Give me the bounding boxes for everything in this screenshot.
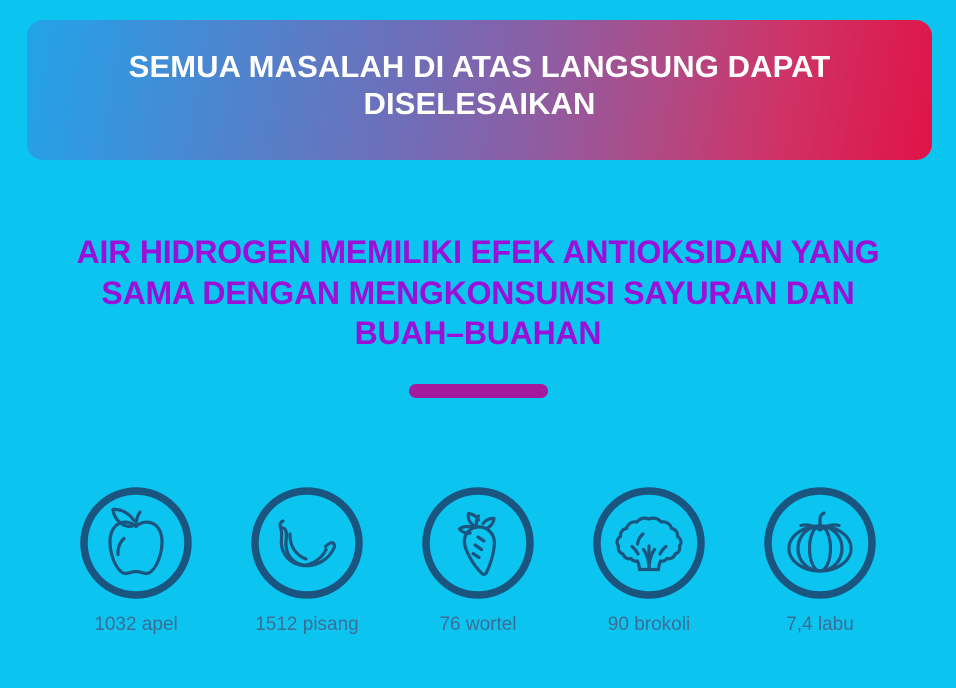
pumpkin-icon [763, 486, 877, 600]
icon-label: 76 wortel [439, 615, 516, 634]
icon-cell-pumpkin: 7,4 labu [735, 486, 906, 634]
header-banner: SEMUA MASALAH DI ATAS LANGSUNG DAPAT DIS… [27, 20, 932, 160]
icon-cell-broccoli: 90 brokoli [564, 486, 735, 634]
icon-cell-banana: 1512 pisang [222, 486, 393, 634]
banana-icon [250, 486, 364, 600]
main-headline: AIR HIDROGEN MEMILIKI EFEK ANTIOKSIDAN Y… [0, 232, 956, 354]
icon-cell-carrot: 76 wortel [393, 486, 564, 634]
divider-container [0, 384, 956, 398]
icon-label: 1512 pisang [255, 615, 359, 634]
icon-label: 90 brokoli [608, 615, 690, 634]
equivalence-icon-row: 1032 apel 1512 pisang [0, 486, 956, 634]
icon-cell-apple: 1032 apel [51, 486, 222, 634]
broccoli-icon [592, 486, 706, 600]
icon-label: 7,4 labu [786, 615, 854, 634]
banner-title: SEMUA MASALAH DI ATAS LANGSUNG DAPAT DIS… [129, 49, 831, 122]
icon-label: 1032 apel [94, 615, 177, 634]
divider-bar [409, 384, 548, 398]
infographic-slide: SEMUA MASALAH DI ATAS LANGSUNG DAPAT DIS… [0, 0, 956, 688]
apple-icon [79, 486, 193, 600]
carrot-icon [421, 486, 535, 600]
